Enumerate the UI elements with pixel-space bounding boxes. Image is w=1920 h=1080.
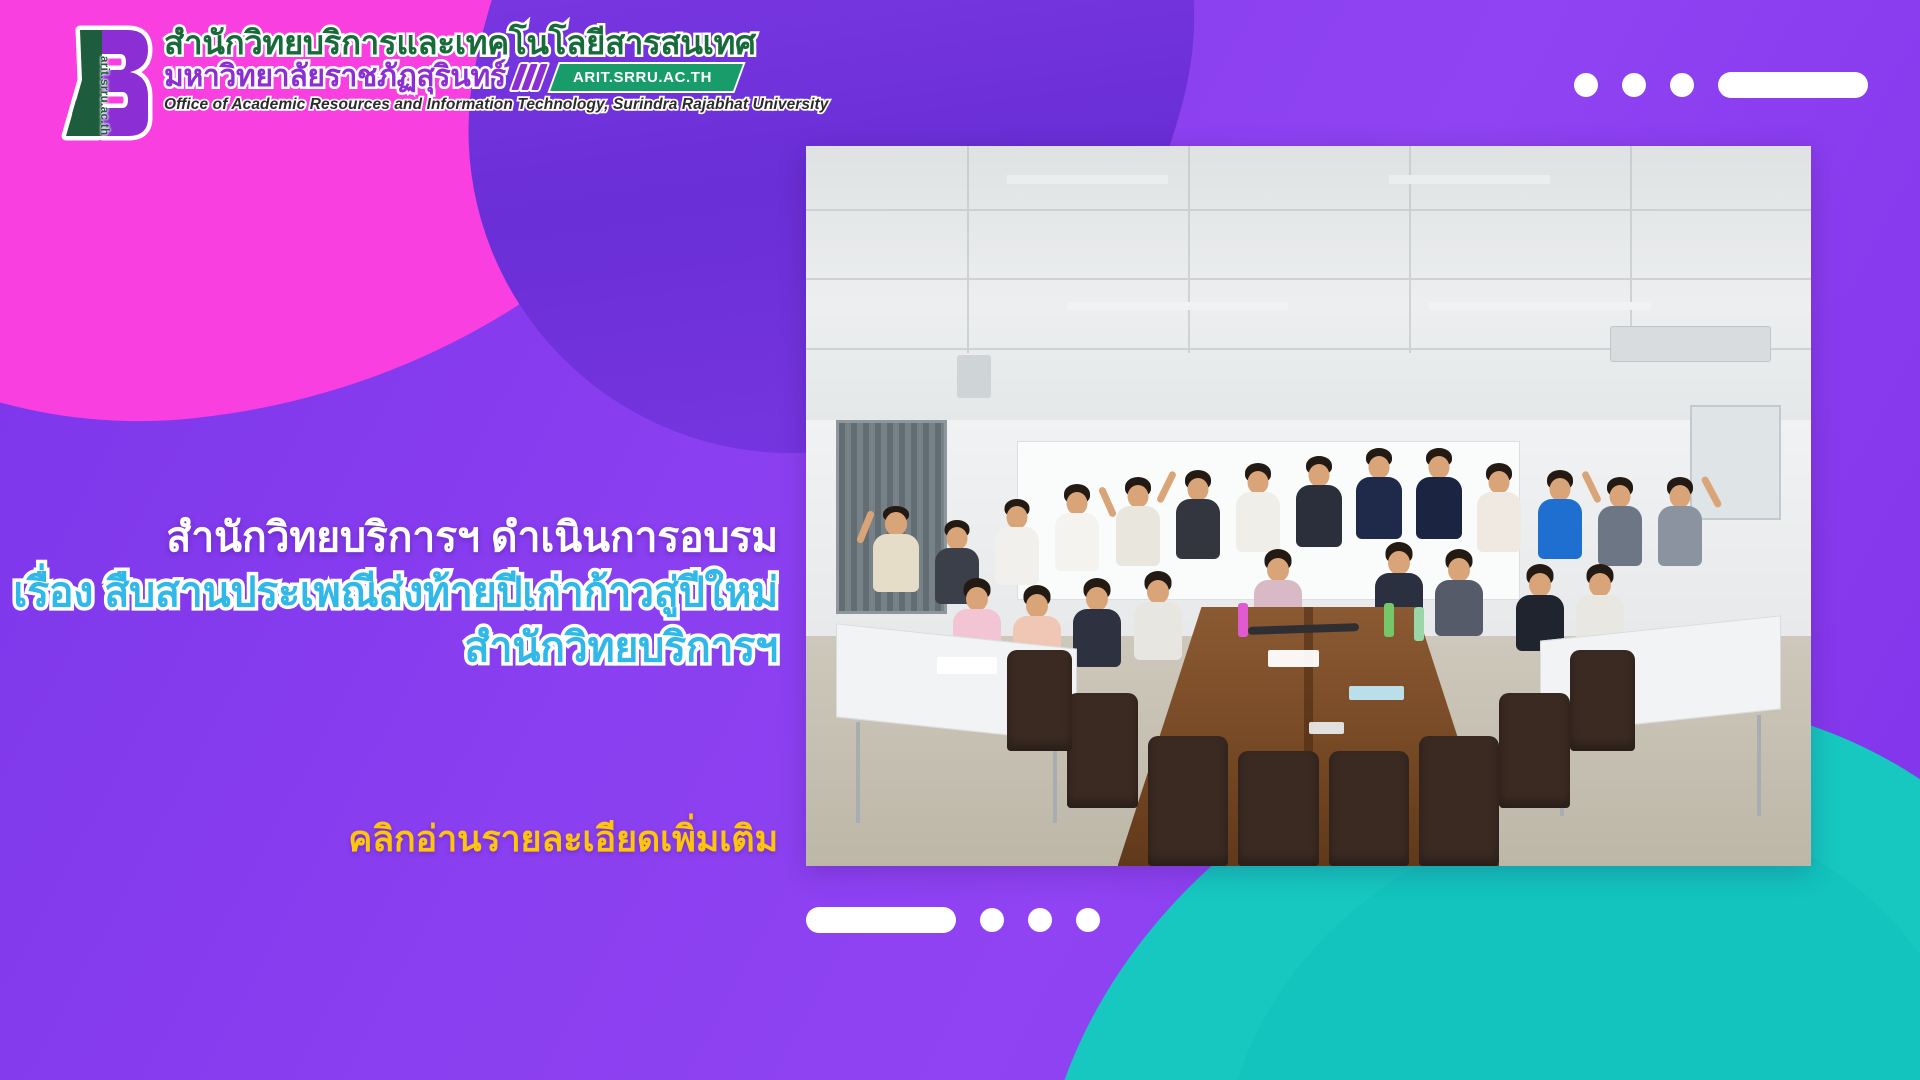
paper-document: [1309, 722, 1344, 734]
carousel-dot-1[interactable]: [1574, 73, 1598, 97]
slide-photo-card[interactable]: [806, 146, 1811, 866]
chair: [1238, 751, 1318, 866]
banner-slide: arit.srru.ac.th สำนักวิทยบริการและเทคโนโ…: [0, 0, 1920, 1080]
chair: [1067, 693, 1137, 808]
chair: [1007, 650, 1072, 751]
paper-document: [1349, 686, 1404, 700]
headline-line-1: สำนักวิทยบริการฯ ดำเนินการอบรม: [0, 510, 778, 565]
brand-name-thai-line1: สำนักวิทยบริการและเทคโนโลยีสารสนเทศ: [164, 26, 829, 60]
headline-line-2: เรื่อง สืบสานประเพณีส่งท้ายปีเก่าก้าวสู่…: [0, 565, 778, 620]
slide-headline: สำนักวิทยบริการฯ ดำเนินการอบรม เรื่อง สื…: [0, 510, 800, 675]
brand-logo-lockup[interactable]: arit.srru.ac.th สำนักวิทยบริการและเทคโนโ…: [36, 22, 829, 142]
website-url-badge-label: ARIT.SRRU.AC.TH: [573, 69, 712, 86]
carousel-indicators-bottom: [806, 907, 1100, 933]
carousel-dot-2[interactable]: [1622, 73, 1646, 97]
website-url-badge[interactable]: ARIT.SRRU.AC.TH: [547, 62, 745, 93]
group-photo-meeting-room: [806, 146, 1811, 866]
carousel-indicators-top: [1574, 72, 1868, 98]
carousel-dot-1[interactable]: [980, 908, 1004, 932]
carousel-active-pill[interactable]: [1718, 72, 1868, 98]
water-bottle: [1414, 607, 1424, 641]
arit-monogram-logo: arit.srru.ac.th: [36, 22, 154, 142]
chair: [1499, 693, 1569, 808]
chair: [1148, 736, 1228, 866]
chair: [1419, 736, 1499, 866]
carousel-dot-2[interactable]: [1028, 908, 1052, 932]
brand-name-english: Office of Academic Resources and Informa…: [164, 96, 829, 114]
water-bottle: [1384, 603, 1394, 637]
slash-divider-icon: [516, 64, 543, 90]
chair: [1570, 650, 1635, 751]
carousel-active-pill[interactable]: [806, 907, 956, 933]
logo-vertical-url: arit.srru.ac.th: [98, 56, 110, 136]
carousel-dot-3[interactable]: [1076, 908, 1100, 932]
read-more-link[interactable]: คลิกอ่านรายละเอียดเพิ่มเติม: [0, 810, 800, 867]
brand-text-block: สำนักวิทยบริการและเทคโนโลยีสารสนเทศ มหาว…: [164, 22, 829, 114]
brand-name-thai-line2: มหาวิทยาลัยราชภัฏสุรินทร์: [164, 61, 506, 93]
chair: [1329, 751, 1409, 866]
paper-document: [937, 657, 997, 674]
headline-line-3: สำนักวิทยบริการฯ: [0, 620, 778, 675]
paper-document: [1268, 650, 1318, 667]
water-bottle: [1238, 603, 1248, 637]
carousel-dot-3[interactable]: [1670, 73, 1694, 97]
